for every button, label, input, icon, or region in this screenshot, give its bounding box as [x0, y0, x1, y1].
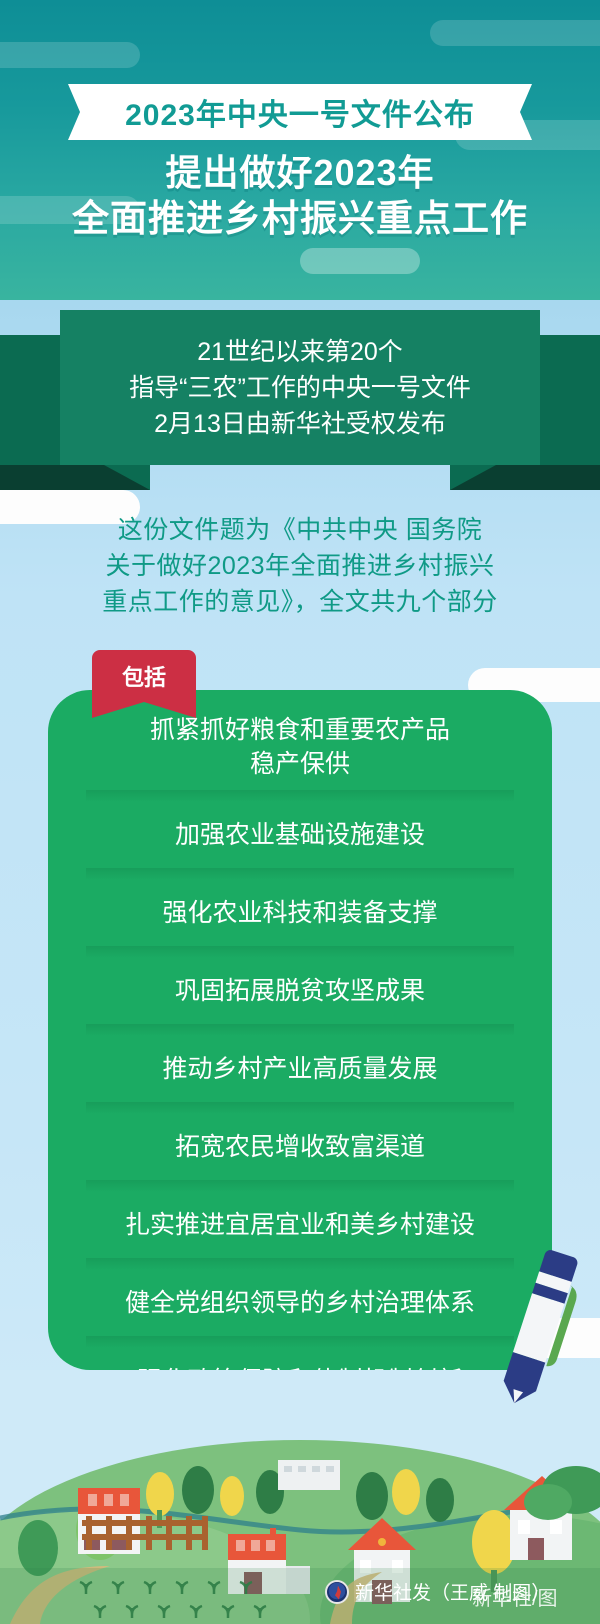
headline-line-2: 全面推进乡村振兴重点工作 — [0, 196, 600, 242]
banner-text-block: 21世纪以来第20个 指导“三农”工作的中央一号文件 2月13日由新华社受权发布 — [0, 310, 600, 465]
list-item[interactable]: 健全党组织领导的乡村治理体系 — [48, 1270, 552, 1336]
intro-paragraph: 这份文件题为《中共中央 国务院 关于做好2023年全面推进乡村振兴 重点工作的意… — [0, 512, 600, 620]
list-separator — [86, 1024, 514, 1036]
intro-line-3: 重点工作的意见》，全文共九个部分 — [0, 584, 600, 620]
list-separator — [86, 946, 514, 958]
xinhua-logo-icon — [325, 1580, 349, 1604]
list-item[interactable]: 拓宽农民增收致富渠道 — [48, 1114, 552, 1180]
list-item[interactable]: 扎实推进宜居宜业和美乡村建设 — [48, 1192, 552, 1258]
decorative-cloud-icon — [300, 248, 420, 274]
pen-icon — [494, 1242, 584, 1412]
headline-line-1: 提出做好2023年 — [0, 150, 600, 196]
list-separator — [86, 790, 514, 802]
banner-line-3: 2月13日由新华社受权发布 — [154, 406, 446, 442]
banner-line-2: 指导“三农”工作的中央一号文件 — [129, 370, 471, 406]
subtitle-banner: 21世纪以来第20个 指导“三农”工作的中央一号文件 2月13日由新华社受权发布 — [0, 310, 600, 490]
points-card: 抓紧抓好粮食和重要农产品 稳产保供 加强农业基础设施建设 强化农业科技和装备支撑… — [48, 690, 552, 1370]
list-separator — [86, 1180, 514, 1192]
list-item[interactable]: 抓紧抓好粮食和重要农产品 稳产保供 — [48, 704, 552, 790]
list-item[interactable]: 推动乡村产业高质量发展 — [48, 1036, 552, 1102]
list-item[interactable]: 强化政策保障和体制机制创新 — [48, 1348, 552, 1370]
intro-line-2: 关于做好2023年全面推进乡村振兴 — [0, 548, 600, 584]
intro-line-1: 这份文件题为《中共中央 国务院 — [0, 512, 600, 548]
decorative-cloud-icon — [430, 20, 600, 46]
title-ribbon: 2023年中央一号文件公布 — [68, 84, 532, 140]
ribbon-label: 2023年中央一号文件公布 — [125, 90, 475, 134]
list-separator — [86, 1102, 514, 1114]
banner-fold-left — [0, 465, 150, 490]
list-item-line-2: 稳产保供 — [150, 747, 450, 781]
list-separator — [86, 868, 514, 880]
list-item[interactable]: 巩固拓展脱贫攻坚成果 — [48, 958, 552, 1024]
list-item-line-1: 抓紧抓好粮食和重要农产品 — [150, 713, 450, 747]
watermark-text: 新华社/图 — [472, 1582, 558, 1611]
banner-fold-right — [450, 465, 600, 490]
includes-badge-label: 包括 — [122, 660, 166, 692]
list-item[interactable]: 强化农业科技和装备支撑 — [48, 880, 552, 946]
banner-line-1: 21世纪以来第20个 — [197, 334, 403, 370]
list-item[interactable]: 加强农业基础设施建设 — [48, 802, 552, 868]
list-separator — [86, 1336, 514, 1348]
decorative-cloud-icon — [0, 42, 140, 68]
list-separator — [86, 1258, 514, 1270]
page-title: 提出做好2023年 全面推进乡村振兴重点工作 — [0, 150, 600, 242]
